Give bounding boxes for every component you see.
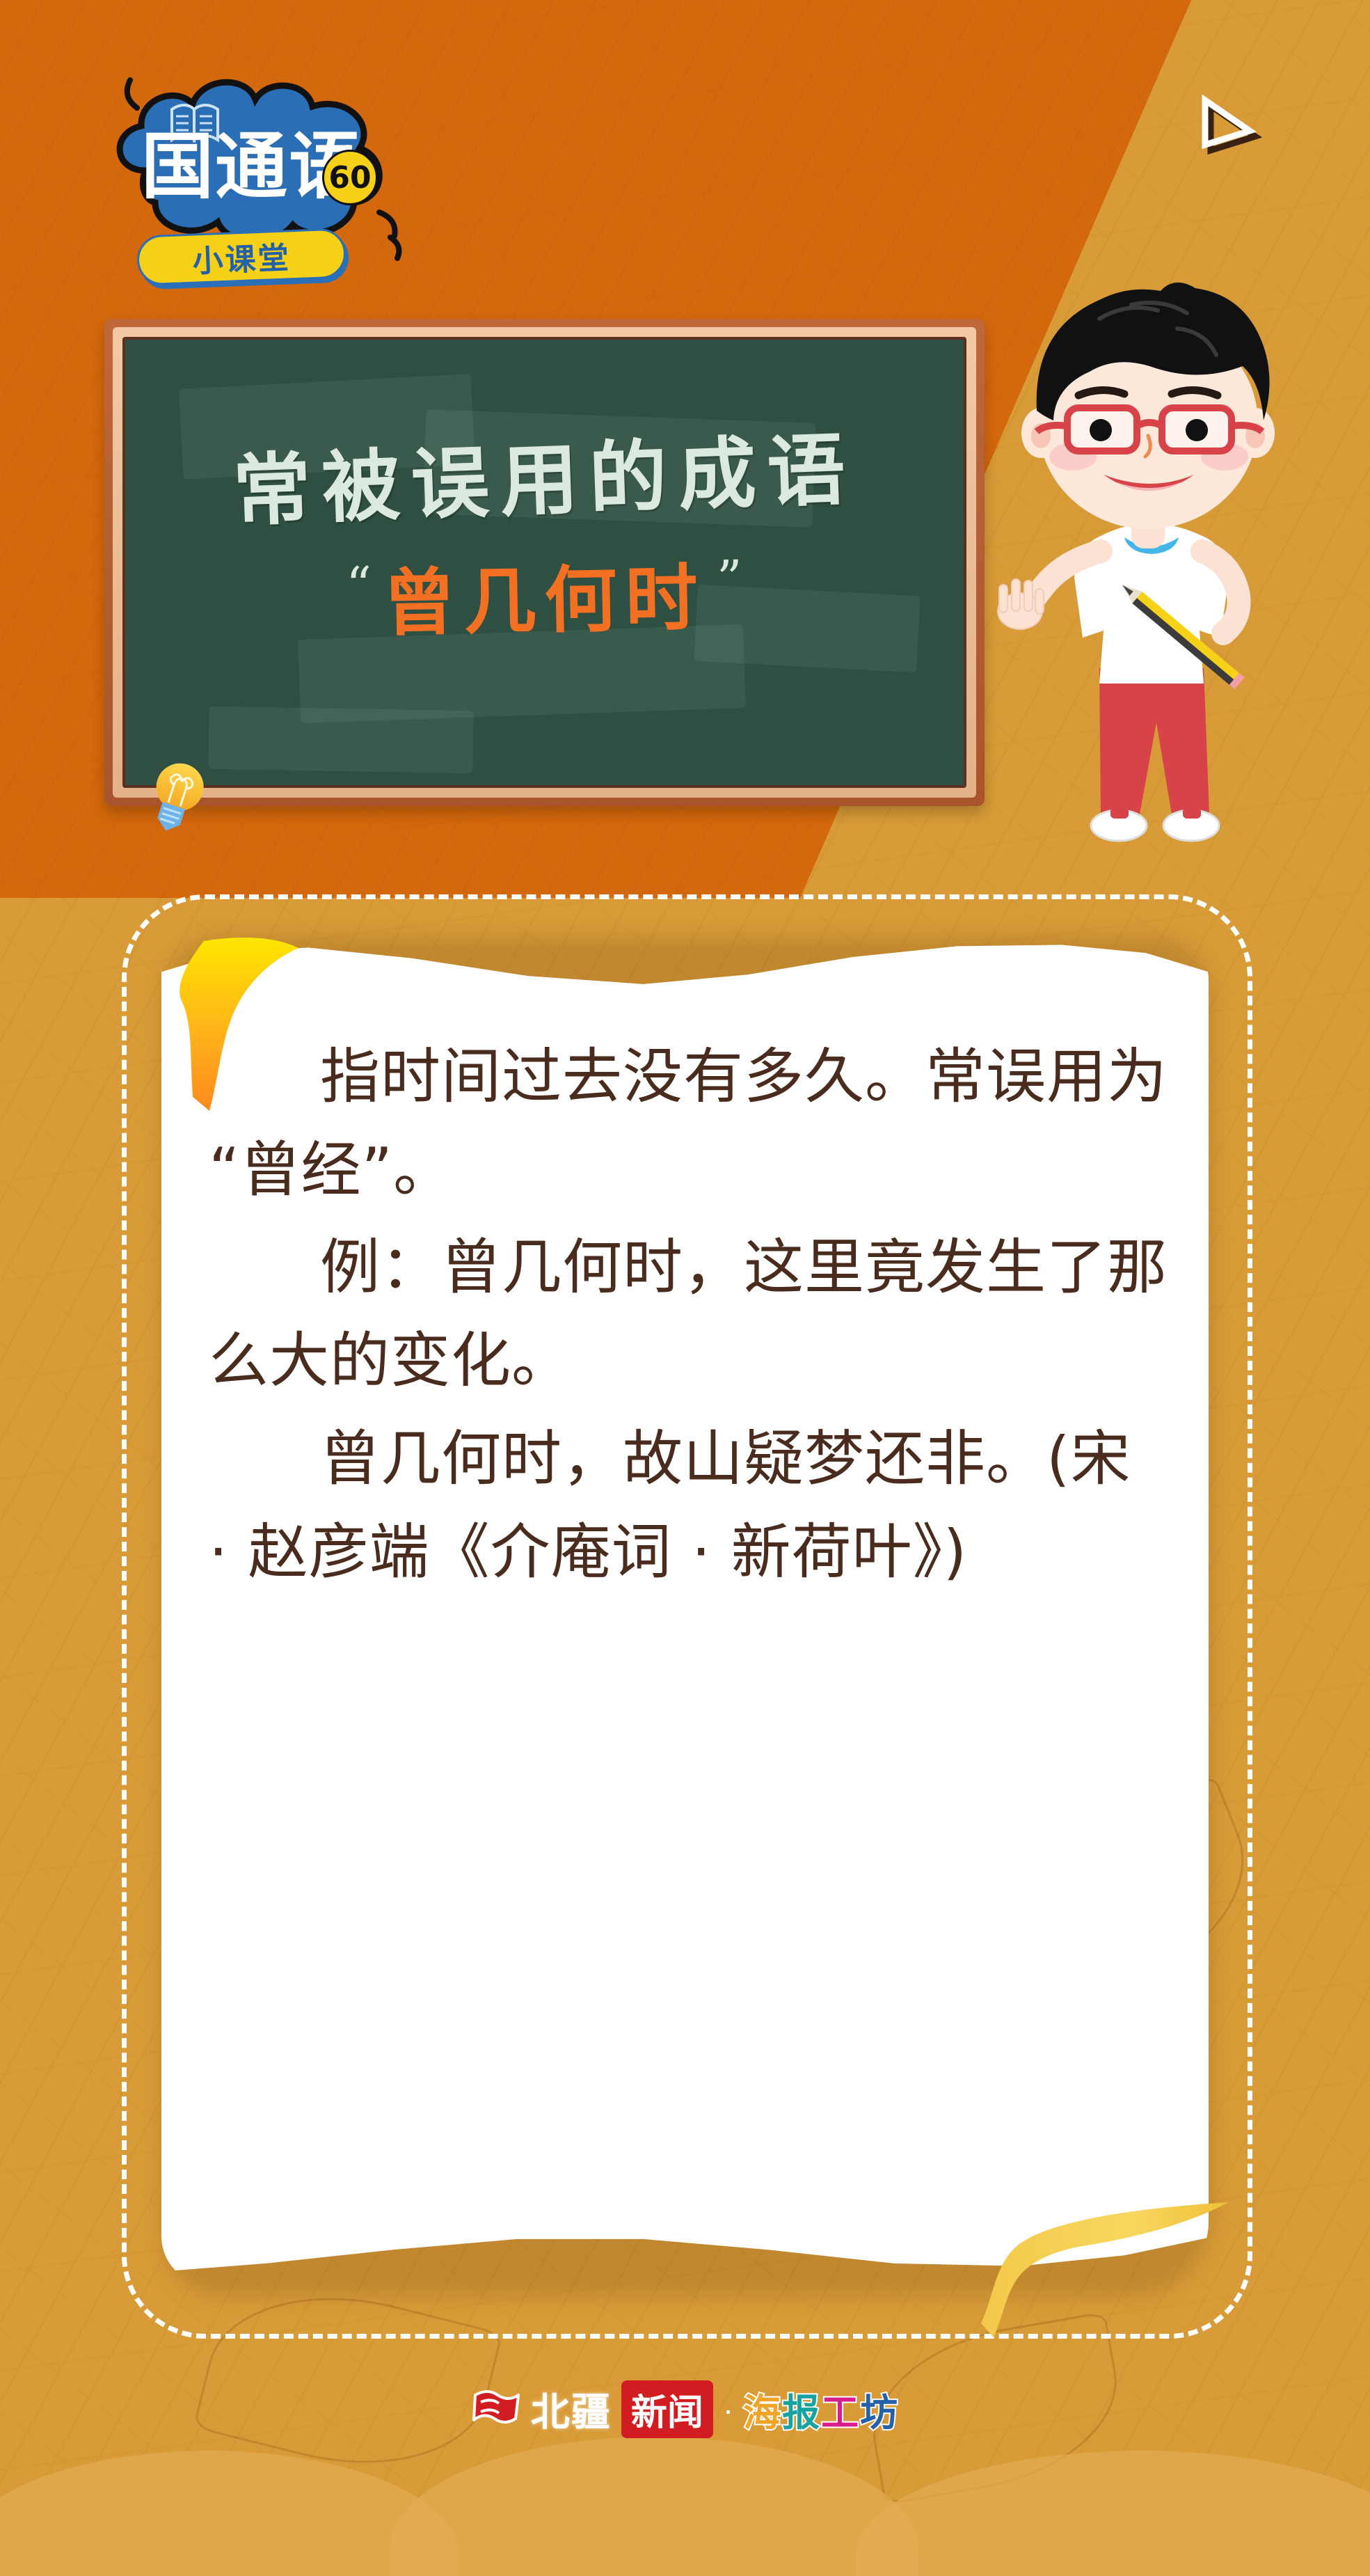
red-flag-icon [471, 2388, 521, 2431]
quote-close-mark: ” [717, 553, 743, 604]
logo-title-char: 国 [141, 130, 215, 203]
footer-separator: · [723, 2391, 733, 2428]
logo-count-badge: 60 [322, 150, 378, 205]
board-idiom: 曾几何时 [382, 539, 707, 649]
card-paragraph: 指时间过去没有多久。常误用为“曾经”。 [209, 1030, 1169, 1217]
footer-brand-name: 北疆 [531, 2381, 612, 2437]
footer-studio-char: 报 [782, 2390, 821, 2435]
footer-brand-bar: 北疆 新闻 · 海报工坊 [0, 2380, 1370, 2438]
blackboard: 常被误用的成语 “ 曾几何时 ” [104, 319, 985, 806]
play-triangle-icon [1190, 77, 1273, 160]
quote-open-mark: “ [346, 560, 372, 610]
card-text-body: 指时间过去没有多久。常误用为“曾经”。 例：曾几何时，这里竟发生了那么大的变化。… [209, 1030, 1169, 2255]
boy-student-illustration [995, 237, 1301, 905]
footer-studio-char: 坊 [860, 2390, 899, 2435]
lightbulb-icon [150, 759, 204, 835]
logo-subtitle-ribbon: 小课堂 [136, 228, 347, 285]
footer-studio-char: 海 [743, 2390, 782, 2435]
logo-title-char: 通 [215, 130, 289, 203]
footer-news-badge: 新闻 [621, 2380, 713, 2438]
footer-studio-name: 海报工坊 [743, 2382, 899, 2437]
brand-logo[interactable]: 国通语 60 小课堂 [101, 66, 428, 275]
board-idiom-line: “ 曾几何时 ” [125, 534, 964, 654]
logo-subtitle-label: 小课堂 [191, 232, 291, 280]
poster-root: 国通语 60 小课堂 常被误用的成语 “ 曾几何时 ” [0, 0, 1370, 2576]
blackboard-surface: 常被误用的成语 “ 曾几何时 ” [122, 337, 966, 788]
card-paragraph: 曾几何时，故山疑梦还非。(宋 · 赵彦端《介庵词 · 新荷叶》) [209, 1412, 1169, 1599]
card-paragraph: 例：曾几何时，这里竟发生了那么大的变化。 [209, 1221, 1169, 1407]
blackboard-frame-inner: 常被误用的成语 “ 曾几何时 ” [113, 327, 976, 798]
footer-studio-char: 工 [821, 2390, 860, 2435]
